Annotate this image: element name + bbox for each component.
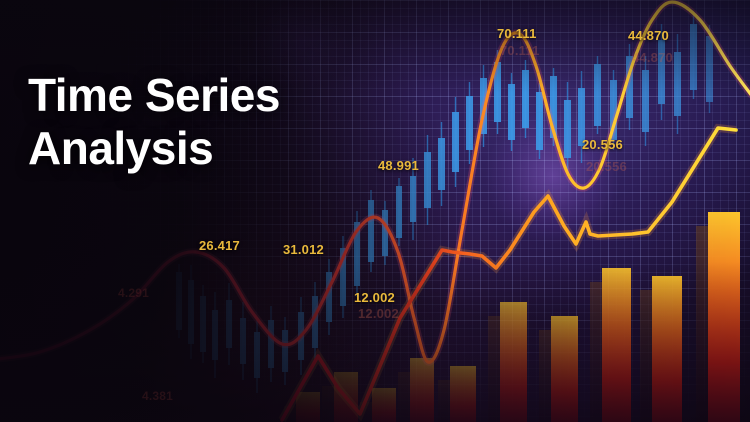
- value-label: 12.002: [354, 290, 395, 305]
- value-label: 44.870: [628, 28, 669, 43]
- value-label: 20.556: [582, 137, 623, 152]
- value-label: 4.381: [142, 389, 173, 403]
- value-label: 70.111: [497, 26, 537, 41]
- value-label: 44.870: [632, 50, 673, 65]
- time-series-analysis-banner: 4.2914.38126.41731.01212.00212.00248.991…: [0, 0, 750, 422]
- value-label: 48.991: [378, 158, 419, 173]
- value-label: 31.012: [283, 242, 324, 257]
- value-label: 12.002: [358, 306, 399, 321]
- value-label: 20.556: [586, 159, 627, 174]
- value-label: 26.417: [199, 238, 240, 253]
- value-label: 70.111: [500, 43, 540, 58]
- page-title: Time Series Analysis: [28, 69, 280, 175]
- value-label: 4.291: [118, 286, 149, 300]
